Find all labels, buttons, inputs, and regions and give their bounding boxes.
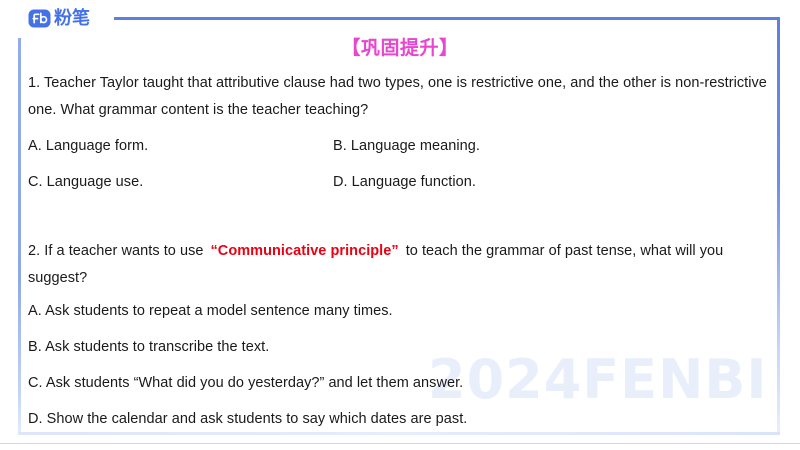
question-1-option-c[interactable]: C. Language use. xyxy=(28,169,333,196)
fenbi-logo: 粉笔 xyxy=(28,6,96,30)
option-row: A. Ask students to repeat a model senten… xyxy=(28,298,768,325)
option-row: B. Ask students to transcribe the text. xyxy=(28,334,768,361)
fenbi-logo-text: 粉笔 xyxy=(54,9,90,28)
fb-monogram-icon xyxy=(28,9,51,28)
question-1-option-a[interactable]: A. Language form. xyxy=(28,133,333,160)
question-2-option-b[interactable]: B. Ask students to transcribe the text. xyxy=(28,334,768,361)
question-2-highlight: “Communicative principle” xyxy=(211,243,399,259)
question-2-option-a[interactable]: A. Ask students to repeat a model senten… xyxy=(28,298,768,325)
option-row: A. Language form. B. Language meaning. xyxy=(28,133,768,160)
slide-canvas: 2024FENBI 粉笔 【巩固提升】 1. Teacher Taylor ta… xyxy=(0,0,800,450)
question-1-option-b[interactable]: B. Language meaning. xyxy=(333,133,480,160)
question-2-stem-text: 2. If a teacher wants to use“Communicati… xyxy=(28,238,768,292)
question-2-options: A. Ask students to repeat a model senten… xyxy=(28,298,768,433)
question-2-stem-part1: 2. If a teacher wants to use xyxy=(28,243,204,259)
question-2-option-c[interactable]: C. Ask students “What did you do yesterd… xyxy=(28,370,768,397)
slide-content: 【巩固提升】 1. Teacher Taylor taught that att… xyxy=(0,0,800,450)
question-1-options: A. Language form. B. Language meaning. C… xyxy=(28,133,768,196)
question-1-stem-text: 1. Teacher Taylor taught that attributiv… xyxy=(28,70,768,124)
question-1-option-d[interactable]: D. Language function. xyxy=(333,169,476,196)
option-row: D. Show the calendar and ask students to… xyxy=(28,406,768,433)
page-title: 【巩固提升】 xyxy=(0,33,800,60)
option-row: C. Ask students “What did you do yesterd… xyxy=(28,370,768,397)
question-1-stem: 1. Teacher Taylor taught that attributiv… xyxy=(28,70,768,124)
option-row: C. Language use. D. Language function. xyxy=(28,169,768,196)
question-2-stem: 2. If a teacher wants to use“Communicati… xyxy=(28,238,768,292)
question-2-option-d[interactable]: D. Show the calendar and ask students to… xyxy=(28,406,768,433)
